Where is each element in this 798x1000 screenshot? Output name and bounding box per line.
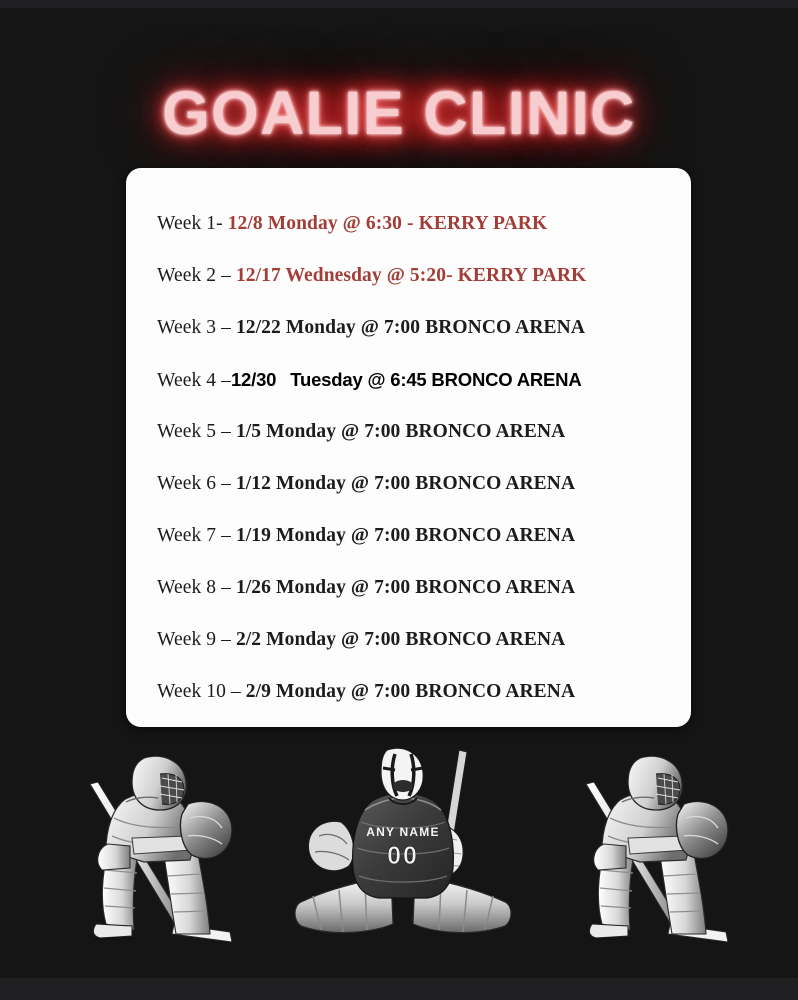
schedule-list: Week 1- 12/8 Monday @ 6:30 - KERRY PARKW…	[157, 198, 677, 718]
week-detail: 1/5 Monday @ 7:00 BRONCO ARENA	[236, 421, 565, 442]
goalie-illustration-row: ANY NAME 00	[0, 744, 798, 956]
letterbox-bar-bottom	[0, 978, 798, 1000]
poster-canvas: GOALIE CLINIC Week 1- 12/8 Monday @ 6:30…	[0, 8, 798, 978]
poster-title-area: GOALIE CLINIC	[0, 70, 798, 156]
week-label: Week 9 –	[157, 629, 236, 650]
schedule-row: Week 3 – 12/22 Monday @ 7:00 BRONCO AREN…	[157, 302, 677, 354]
week-label: Week 5 –	[157, 421, 236, 442]
schedule-row: Week 2 – 12/17 Wednesday @ 5:20- KERRY P…	[157, 250, 677, 302]
schedule-row: Week 1- 12/8 Monday @ 6:30 - KERRY PARK	[157, 198, 677, 250]
schedule-card: Week 1- 12/8 Monday @ 6:30 - KERRY PARKW…	[126, 168, 691, 727]
week-detail: 12/8 Monday @ 6:30 - KERRY PARK	[228, 213, 548, 234]
week-label: Week 2 –	[157, 265, 236, 286]
schedule-row: Week 9 – 2/2 Monday @ 7:00 BRONCO ARENA	[157, 614, 677, 666]
jersey-name-text: ANY NAME	[366, 825, 439, 839]
week-detail: 12/30Tuesday @ 6:45 BRONCO ARENA	[231, 369, 582, 390]
week-label: Week 6 –	[157, 473, 236, 494]
page-title: GOALIE CLINIC	[162, 78, 636, 148]
week-detail: 2/9 Monday @ 7:00 BRONCO ARENA	[246, 681, 575, 702]
week-label: Week 10 –	[157, 681, 246, 702]
goalie-butterfly-stance-icon: ANY NAME 00	[283, 744, 523, 949]
week-label: Week 4 –	[157, 370, 231, 391]
goalie-ready-stance-right-icon	[568, 744, 740, 949]
week-detail: 1/12 Monday @ 7:00 BRONCO ARENA	[236, 473, 575, 494]
week-detail-secondary: Tuesday @ 6:45 BRONCO ARENA	[290, 369, 581, 390]
schedule-row: Week 7 – 1/19 Monday @ 7:00 BRONCO ARENA	[157, 510, 677, 562]
week-detail: 1/19 Monday @ 7:00 BRONCO ARENA	[236, 525, 575, 546]
week-detail: 12/22 Monday @ 7:00 BRONCO ARENA	[236, 317, 585, 338]
schedule-row: Week 5 – 1/5 Monday @ 7:00 BRONCO ARENA	[157, 406, 677, 458]
schedule-row: Week 10 – 2/9 Monday @ 7:00 BRONCO ARENA	[157, 666, 677, 718]
week-label: Week 8 –	[157, 577, 236, 598]
schedule-row: Week 6 – 1/12 Monday @ 7:00 BRONCO ARENA	[157, 458, 677, 510]
schedule-row: Week 4 –12/30Tuesday @ 6:45 BRONCO ARENA	[157, 354, 677, 406]
schedule-row: Week 8 – 1/26 Monday @ 7:00 BRONCO ARENA	[157, 562, 677, 614]
week-detail: 1/26 Monday @ 7:00 BRONCO ARENA	[236, 577, 575, 598]
week-detail: 2/2 Monday @ 7:00 BRONCO ARENA	[236, 629, 565, 650]
week-label: Week 3 –	[157, 317, 236, 338]
goalie-ready-stance-left-icon	[72, 744, 244, 949]
letterbox-bar-top	[0, 0, 798, 8]
week-detail: 12/17 Wednesday @ 5:20- KERRY PARK	[236, 265, 586, 286]
week-label: Week 1-	[157, 213, 228, 234]
week-label: Week 7 –	[157, 525, 236, 546]
jersey-number-text: 00	[387, 842, 419, 870]
